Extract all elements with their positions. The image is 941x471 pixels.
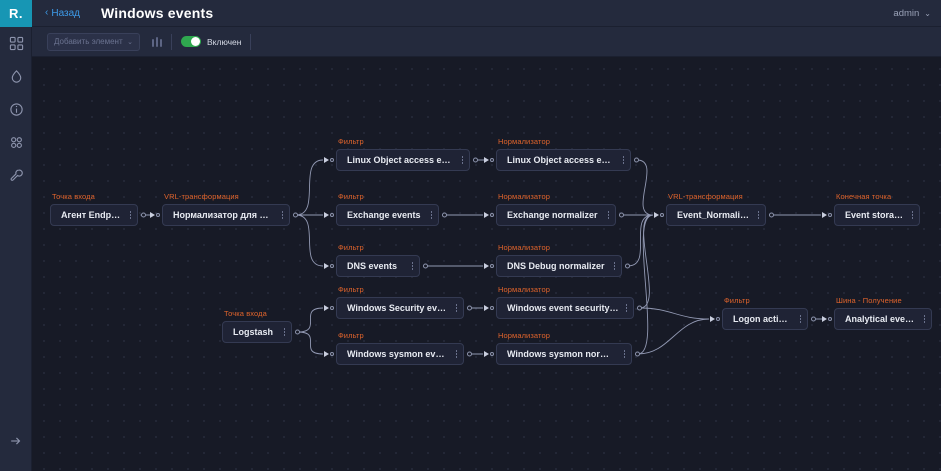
node-exchange-norm[interactable]: НормализаторExchange normalizer — [496, 204, 616, 226]
node-menu-icon[interactable] — [623, 156, 625, 164]
node-category-label: Конечная точка — [836, 192, 891, 201]
toolbar-divider — [171, 34, 172, 50]
node-input-port[interactable] — [484, 157, 494, 163]
node-output-port[interactable] — [473, 158, 478, 163]
node-output-port[interactable] — [423, 264, 428, 269]
node-box[interactable]: Analytical events — [834, 308, 932, 330]
add-element-label: Добавить элемент — [54, 37, 123, 46]
back-label: Назад — [51, 8, 80, 19]
node-linux-obj-filter[interactable]: ФильтрLinux Object access events — [336, 149, 470, 171]
node-box[interactable]: Event storage — [834, 204, 920, 226]
node-label: Logstash — [233, 327, 273, 337]
node-category-label: Точка входа — [224, 309, 267, 318]
editor-toolbar: Добавить элемент ⌄ Включен — [32, 27, 941, 57]
node-category-label: Фильтр — [338, 331, 364, 340]
chevron-down-icon: ⌄ — [924, 9, 931, 18]
node-dns-filter[interactable]: ФильтрDNS events — [336, 255, 420, 277]
node-output-port[interactable] — [295, 330, 300, 335]
node-category-label: Фильтр — [338, 243, 364, 252]
node-label: Windows Security events — [347, 303, 449, 313]
node-output-port[interactable] — [634, 158, 639, 163]
top-bar: R. ‹ Назад Windows events admin ⌄ — [0, 0, 941, 27]
node-output-port[interactable] — [769, 213, 774, 218]
node-box[interactable]: Windows event security n... — [496, 297, 634, 319]
node-label: Event storage — [845, 210, 905, 220]
node-menu-icon[interactable] — [462, 156, 464, 164]
toggle-label: Включен — [207, 37, 241, 47]
node-input-port[interactable] — [654, 212, 664, 218]
node-box[interactable]: Windows Security events — [336, 297, 464, 319]
pipeline-enabled-toggle[interactable]: Включен — [181, 36, 241, 47]
edge-endpoint-norm-to-dns-filter — [296, 215, 323, 266]
node-label: Windows event security n... — [507, 303, 619, 313]
node-box[interactable]: DNS events — [336, 255, 420, 277]
sidebar-item-dashboard[interactable] — [0, 27, 32, 60]
node-logstash[interactable]: Точка входаLogstash — [222, 321, 292, 343]
toolbar-divider-2 — [250, 34, 251, 50]
node-category-label: Нормализатор — [498, 243, 550, 252]
columns-icon[interactable] — [152, 37, 162, 47]
node-menu-icon[interactable] — [626, 304, 628, 312]
node-box[interactable]: Windows sysmon events — [336, 343, 464, 365]
edge-win-sec-norm-to-logon-activity — [640, 308, 709, 319]
node-endpoint-norm[interactable]: VRL-трансформацияНормализатор для Endp..… — [162, 204, 290, 226]
sidebar-item-tools[interactable] — [0, 159, 32, 192]
node-label: Exchange normalizer — [507, 210, 598, 220]
node-category-label: VRL-трансформация — [668, 192, 743, 201]
node-box[interactable]: Linux Object access events — [336, 149, 470, 171]
node-output-port[interactable] — [619, 213, 624, 218]
sidebar-item-flame[interactable] — [0, 60, 32, 93]
node-label: Windows sysmon events — [347, 349, 449, 359]
node-label: DNS events — [347, 261, 397, 271]
node-input-port[interactable] — [484, 212, 494, 218]
page-title: Windows events — [101, 5, 213, 21]
user-menu[interactable]: admin ⌄ — [893, 0, 931, 27]
sidebar-item-apps[interactable] — [0, 126, 32, 159]
sidebar-expand-button[interactable] — [0, 424, 32, 457]
node-box[interactable]: DNS Debug normalizer — [496, 255, 622, 277]
node-input-port[interactable] — [710, 316, 720, 322]
chevron-down-icon: ⌄ — [127, 38, 133, 46]
node-menu-icon[interactable] — [431, 211, 433, 219]
edge-logstash-to-win-sec-filter — [298, 308, 323, 332]
node-category-label: Фильтр — [338, 285, 364, 294]
node-input-port[interactable] — [324, 212, 334, 218]
node-input-port[interactable] — [324, 157, 334, 163]
node-box[interactable]: Exchange events — [336, 204, 439, 226]
toggle-track[interactable] — [181, 36, 201, 47]
node-menu-icon[interactable] — [924, 315, 926, 323]
node-category-label: Нормализатор — [498, 331, 550, 340]
node-logon-activity[interactable]: ФильтрLogon activity — [722, 308, 808, 330]
node-box[interactable]: Windows sysmon normali... — [496, 343, 632, 365]
node-output-port[interactable] — [442, 213, 447, 218]
edge-win-sysmon-norm-to-logon-activity — [638, 319, 709, 354]
node-input-port[interactable] — [484, 305, 494, 311]
node-label: Нормализатор для Endp... — [173, 210, 275, 220]
node-event-storage[interactable]: Конечная точкаEvent storage — [834, 204, 920, 226]
user-label: admin — [893, 8, 919, 19]
node-box[interactable]: Event_Normalizer — [666, 204, 766, 226]
node-analytical-events[interactable]: Шина - ПолучениеAnalytical events — [834, 308, 932, 330]
app-root: R. ‹ Назад Windows events admin ⌄ — [0, 0, 941, 471]
node-agent-endpoint[interactable]: Точка входаАгент Endpoint — [50, 204, 138, 226]
node-event-normalizer[interactable]: VRL-трансформацияEvent_Normalizer — [666, 204, 766, 226]
node-input-port[interactable] — [324, 263, 334, 269]
node-box[interactable]: Logstash — [222, 321, 292, 343]
node-linux-obj-norm[interactable]: НормализаторLinux Object access enric... — [496, 149, 631, 171]
node-label: DNS Debug normalizer — [507, 261, 605, 271]
node-output-port[interactable] — [467, 306, 472, 311]
node-win-sysmon-filter[interactable]: ФильтрWindows sysmon events — [336, 343, 464, 365]
edge-logstash-to-win-sysmon-filter — [298, 332, 323, 354]
node-label: Analytical events — [845, 314, 917, 324]
node-category-label: Фильтр — [724, 296, 750, 305]
node-output-port[interactable] — [637, 306, 642, 311]
node-input-port[interactable] — [822, 212, 832, 218]
node-label: Event_Normalizer — [677, 210, 751, 220]
node-category-label: Нормализатор — [498, 192, 550, 201]
edge-endpoint-norm-to-linux-obj-filter — [296, 160, 323, 215]
node-label: Linux Object access events — [347, 155, 455, 165]
node-label: Logon activity — [733, 314, 793, 324]
node-menu-icon[interactable] — [456, 350, 458, 358]
node-input-port[interactable] — [324, 351, 334, 357]
node-menu-icon[interactable] — [130, 211, 132, 219]
node-output-port[interactable] — [293, 213, 298, 218]
node-win-sec-filter[interactable]: ФильтрWindows Security events — [336, 297, 464, 319]
node-category-label: Точка входа — [52, 192, 95, 201]
node-category-label: VRL-трансформация — [164, 192, 239, 201]
node-output-port[interactable] — [141, 213, 146, 218]
node-input-port[interactable] — [324, 305, 334, 311]
node-menu-icon[interactable] — [412, 262, 414, 270]
node-menu-icon[interactable] — [284, 328, 286, 336]
app-logo[interactable]: R. — [0, 0, 32, 27]
add-element-dropdown[interactable]: Добавить элемент ⌄ — [47, 33, 140, 51]
node-menu-icon[interactable] — [912, 211, 914, 219]
node-menu-icon[interactable] — [608, 211, 610, 219]
node-label: Windows sysmon normali... — [507, 349, 617, 359]
node-input-port[interactable] — [484, 351, 494, 357]
node-box[interactable]: Logon activity — [722, 308, 808, 330]
node-menu-icon[interactable] — [614, 262, 616, 270]
sidebar-rail — [0, 27, 32, 471]
node-dns-norm[interactable]: НормализаторDNS Debug normalizer — [496, 255, 622, 277]
node-output-port[interactable] — [625, 264, 630, 269]
toggle-knob — [191, 37, 200, 46]
edge-linux-obj-norm-to-event-normalizer — [637, 160, 653, 215]
node-category-label: Фильтр — [338, 137, 364, 146]
node-win-sysmon-norm[interactable]: НормализаторWindows sysmon normali... — [496, 343, 632, 365]
node-box[interactable]: Exchange normalizer — [496, 204, 616, 226]
node-win-sec-norm[interactable]: НормализаторWindows event security n... — [496, 297, 634, 319]
edge-dns-norm-to-event-normalizer — [628, 215, 653, 266]
node-category-label: Нормализатор — [498, 137, 550, 146]
pipeline-canvas[interactable]: Точка входаАгент EndpointVRL-трансформац… — [32, 57, 941, 471]
node-exchange-filter[interactable]: ФильтрExchange events — [336, 204, 439, 226]
node-output-port[interactable] — [467, 352, 472, 357]
node-category-label: Нормализатор — [498, 285, 550, 294]
node-box[interactable]: Linux Object access enric... — [496, 149, 631, 171]
node-category-label: Шина - Получение — [836, 296, 902, 305]
sidebar-item-info[interactable] — [0, 93, 32, 126]
node-input-port[interactable] — [150, 212, 160, 218]
node-menu-icon[interactable] — [282, 211, 284, 219]
node-menu-icon[interactable] — [800, 315, 802, 323]
node-box[interactable]: Агент Endpoint — [50, 204, 138, 226]
back-chevron-icon: ‹ — [45, 8, 48, 18]
node-input-port[interactable] — [822, 316, 832, 322]
node-category-label: Фильтр — [338, 192, 364, 201]
node-label: Exchange events — [347, 210, 421, 220]
node-input-port[interactable] — [484, 263, 494, 269]
node-label: Linux Object access enric... — [507, 155, 616, 165]
node-label: Агент Endpoint — [61, 210, 123, 220]
node-menu-icon[interactable] — [758, 211, 760, 219]
node-output-port[interactable] — [811, 317, 816, 322]
node-menu-icon[interactable] — [456, 304, 458, 312]
node-output-port[interactable] — [635, 352, 640, 357]
node-menu-icon[interactable] — [624, 350, 626, 358]
node-box[interactable]: Нормализатор для Endp... — [162, 204, 290, 226]
back-button[interactable]: ‹ Назад — [45, 8, 80, 19]
